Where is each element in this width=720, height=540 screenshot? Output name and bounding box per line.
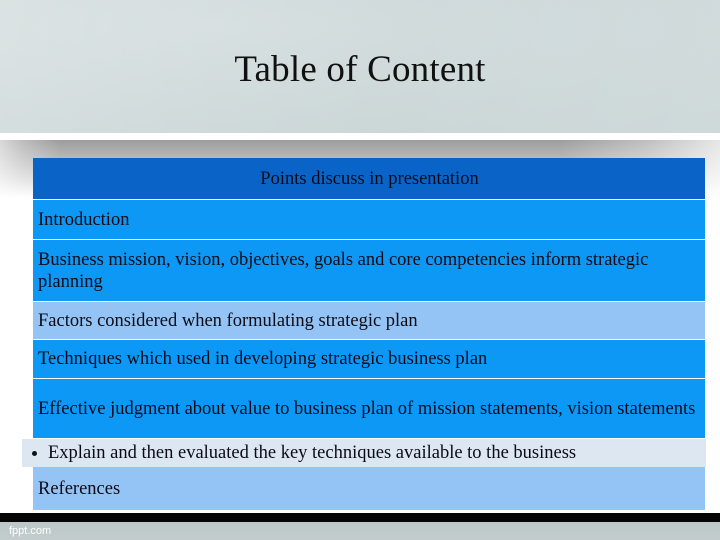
table-row[interactable]: Factors considered when formulating stra… <box>33 302 705 340</box>
table-row[interactable]: Introduction <box>33 200 705 240</box>
table-row[interactable]: Effective judgment about value to busine… <box>33 379 705 439</box>
table-cell-label: Techniques which used in developing stra… <box>38 348 701 370</box>
table-row[interactable]: References <box>33 467 705 511</box>
table-cell-label: Business mission, vision, objectives, go… <box>38 249 701 293</box>
bullet-point-icon <box>32 451 37 456</box>
table-of-contents-table: Points discuss in presentation Introduct… <box>33 158 705 511</box>
table-cell-label: Introduction <box>38 209 701 231</box>
table-cell-label: Effective judgment about value to busine… <box>38 398 701 420</box>
table-row[interactable]: Explain and then evaluated the key techn… <box>33 439 705 467</box>
table-row[interactable]: Techniques which used in developing stra… <box>33 340 705 379</box>
bulleted-list-item[interactable]: Explain and then evaluated the key techn… <box>22 439 706 467</box>
page-title: Table of Content <box>0 48 720 92</box>
table-cell-label: Explain and then evaluated the key techn… <box>48 442 576 464</box>
table-header-row: Points discuss in presentation <box>33 158 705 200</box>
footer-divider-bar <box>0 513 720 522</box>
footer-band <box>0 522 720 540</box>
slide-canvas: Table of Content Points discuss in prese… <box>0 0 720 540</box>
footer-watermark: fppt.com <box>9 524 51 538</box>
title-band-divider <box>0 133 720 140</box>
table-cell-label: Factors considered when formulating stra… <box>38 310 701 332</box>
table-cell-label: References <box>38 478 701 500</box>
table-row[interactable]: Business mission, vision, objectives, go… <box>33 240 705 302</box>
table-header-label: Points discuss in presentation <box>38 168 701 190</box>
